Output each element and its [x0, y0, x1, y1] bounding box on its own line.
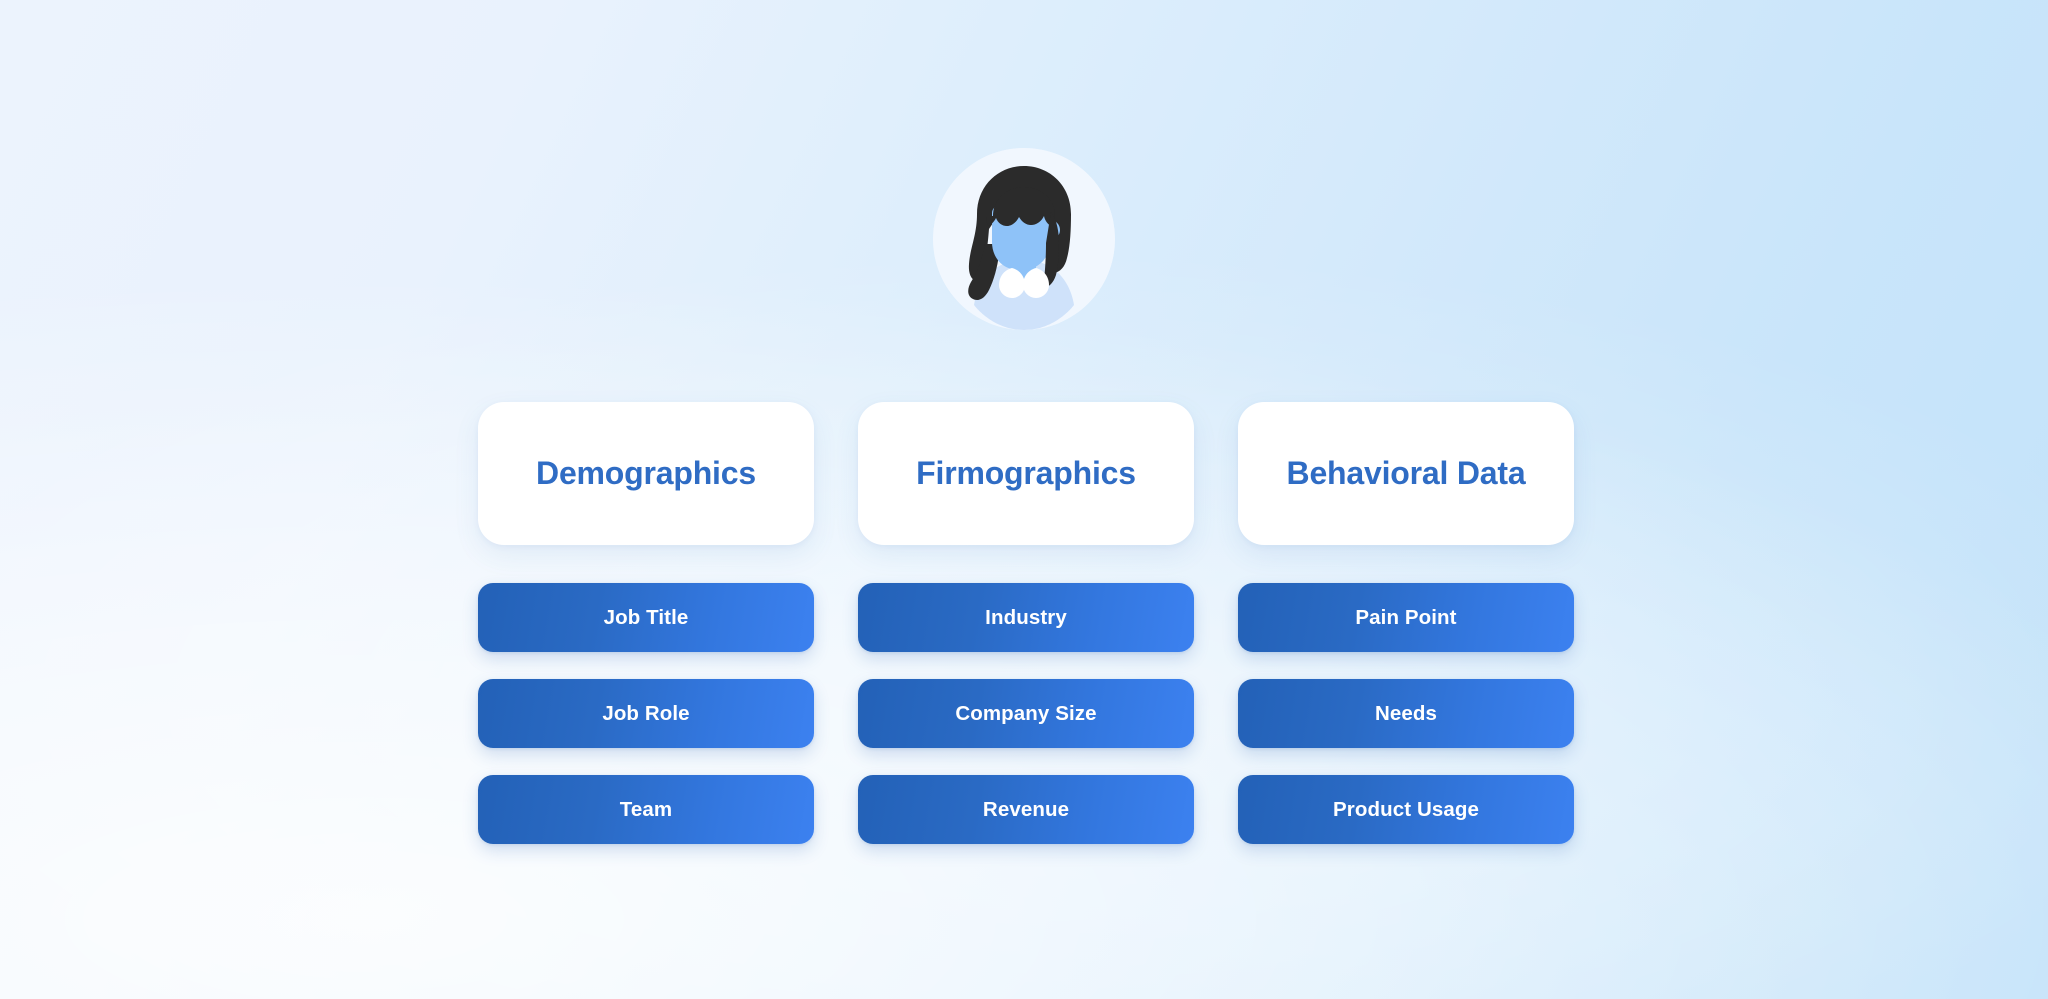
pill-company-size[interactable]: Company Size: [858, 679, 1194, 748]
pill-industry[interactable]: Industry: [858, 583, 1194, 652]
user-avatar-illustration: [933, 148, 1115, 330]
pill-label: Pain Point: [1355, 606, 1456, 630]
pill-label: Company Size: [955, 702, 1096, 726]
pill-label: Industry: [985, 606, 1067, 630]
pill-needs[interactable]: Needs: [1238, 679, 1574, 748]
infographic-stage: Demographics Job Title Job Role Team Fir…: [0, 0, 2048, 999]
pill-label: Job Title: [604, 606, 689, 630]
header-card-demographics: Demographics: [478, 402, 814, 545]
pill-label: Revenue: [983, 798, 1069, 822]
header-card-title: Demographics: [536, 455, 756, 492]
header-card-firmographics: Firmographics: [858, 402, 1194, 545]
pill-pain-point[interactable]: Pain Point: [1238, 583, 1574, 652]
header-card-title: Firmographics: [916, 455, 1136, 492]
pill-product-usage[interactable]: Product Usage: [1238, 775, 1574, 844]
column-demographics: Demographics Job Title Job Role Team: [478, 402, 814, 844]
pill-label: Needs: [1375, 702, 1437, 726]
pill-label: Product Usage: [1333, 798, 1479, 822]
pill-label: Job Role: [602, 702, 689, 726]
avatar: [933, 148, 1115, 330]
persona-attribute-grid: Demographics Job Title Job Role Team Fir…: [478, 402, 1570, 844]
pill-revenue[interactable]: Revenue: [858, 775, 1194, 844]
column-behavioral-data: Behavioral Data Pain Point Needs Product…: [1238, 402, 1574, 844]
avatar-circle: [933, 148, 1115, 330]
pill-team[interactable]: Team: [478, 775, 814, 844]
header-card-behavioral-data: Behavioral Data: [1238, 402, 1574, 545]
pill-job-title[interactable]: Job Title: [478, 583, 814, 652]
pill-job-role[interactable]: Job Role: [478, 679, 814, 748]
column-firmographics: Firmographics Industry Company Size Reve…: [858, 402, 1194, 844]
header-card-title: Behavioral Data: [1287, 455, 1526, 492]
pill-label: Team: [620, 798, 672, 822]
